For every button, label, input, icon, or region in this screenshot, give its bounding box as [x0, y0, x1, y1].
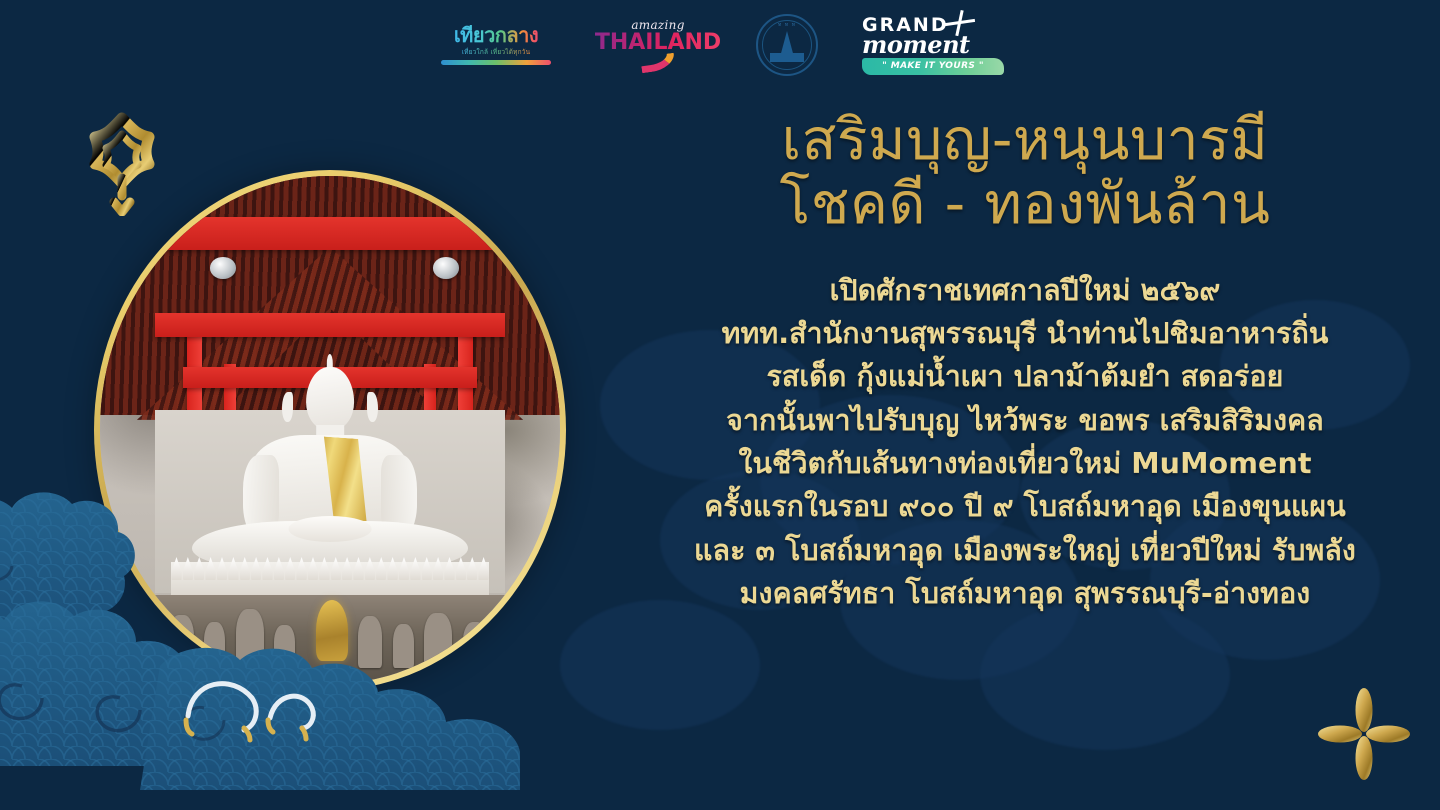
body-line: จากนั้นพาไปรับบุญ ไหว้พระ ขอพร เสริมสิริ…	[630, 399, 1420, 442]
buddha-ear-left	[282, 392, 293, 422]
cross-icon	[945, 10, 975, 36]
poster-canvas: เที่ยวกลาง เที่ยวใกล้ เที่ยวได้ทุกวัน am…	[0, 0, 1440, 810]
logo-grand-moment-tagline: " MAKE IT YOURS "	[882, 61, 984, 71]
grand-text: GRAND	[862, 14, 949, 36]
body-line: มงคลศรัทธา โบสถ์มหาอุด สุพรรณบุรี-อ่างทอ…	[630, 572, 1420, 615]
seal-top-text: ท ท ท	[758, 21, 816, 29]
logo-tat-suphanburi-seal[interactable]: ท ท ท	[756, 14, 820, 76]
seal-base-shape	[770, 53, 804, 62]
logo-teaw-glang-sub: เที่ยวใกล้ เที่ยวได้ทุกวัน	[462, 47, 531, 57]
logo-amazing-thailand-line2: THAILAND	[595, 31, 721, 54]
body-paragraph: เปิดศักราชเทศกาลปีใหม่ ๒๕๖๙ ททท.สำนักงาน…	[630, 269, 1420, 616]
logo-grand-moment-tagline-ribbon: " MAKE IT YOURS "	[862, 58, 1004, 75]
body-line: รสเด็ด กุ้งแม่น้ำเผา ปลาม้าต้มยำ สดอร่อย	[630, 355, 1420, 398]
headline-line-1: เสริมบุญ-หนุนบารมี	[630, 108, 1420, 172]
body-line: ครั้งแรกในรอบ ๙๐๐ ปี ๙ โบสถ์มหาอุด เมือง…	[630, 485, 1420, 528]
logo-teaw-glang-swoosh	[441, 60, 551, 65]
red-beam-second	[155, 313, 505, 336]
logo-amazing-thailand[interactable]: amazing THAILAND	[602, 14, 714, 76]
logo-grand-moment-line1: GRAND	[862, 16, 949, 35]
logo-amazing-thailand-swoosh	[640, 53, 676, 74]
headline-line-2: โชคดี - ทองพันล้าน	[630, 172, 1420, 236]
logo-grand-moment-line2: moment	[862, 33, 970, 57]
ceiling-lamp-left	[210, 257, 236, 278]
body-line: ในชีวิตกับเส้นทางท่องเที่ยวใหม่ MuMoment	[630, 442, 1420, 485]
logo-teaw-glang[interactable]: เที่ยวกลาง เที่ยวใกล้ เที่ยวได้ทุกวัน	[432, 14, 560, 76]
logo-grand-moment[interactable]: GRAND moment " MAKE IT YOURS "	[862, 14, 1008, 76]
buddha-head	[306, 367, 354, 431]
red-beam-top	[118, 217, 541, 251]
body-line: เปิดศักราชเทศกาลปีใหม่ ๒๕๖๙	[630, 269, 1420, 312]
logo-teaw-glang-main: เที่ยวกลาง	[454, 25, 538, 45]
partner-logo-strip: เที่ยวกลาง เที่ยวใกล้ เที่ยวได้ทุกวัน am…	[0, 0, 1440, 90]
quatrefoil-ornament-top-left	[70, 112, 174, 216]
body-line: ททท.สำนักงานสุพรรณบุรี นำท่านไปชิมอาหารถ…	[630, 312, 1420, 355]
seal-circle: ท ท ท	[756, 14, 818, 76]
ceiling-lamp-right	[433, 257, 459, 278]
text-column: เสริมบุญ-หนุนบารมี โชคดี - ทองพันล้าน เป…	[630, 108, 1420, 615]
four-petal-flower-ornament-bottom-right	[1318, 688, 1410, 780]
page-title: เสริมบุญ-หนุนบารมี โชคดี - ทองพันล้าน	[630, 108, 1420, 237]
body-line: และ ๓ โบสถ์มหาอุด เมืองพระใหญ่ เที่ยวปีใ…	[630, 529, 1420, 572]
decorative-thai-clouds	[0, 460, 660, 810]
